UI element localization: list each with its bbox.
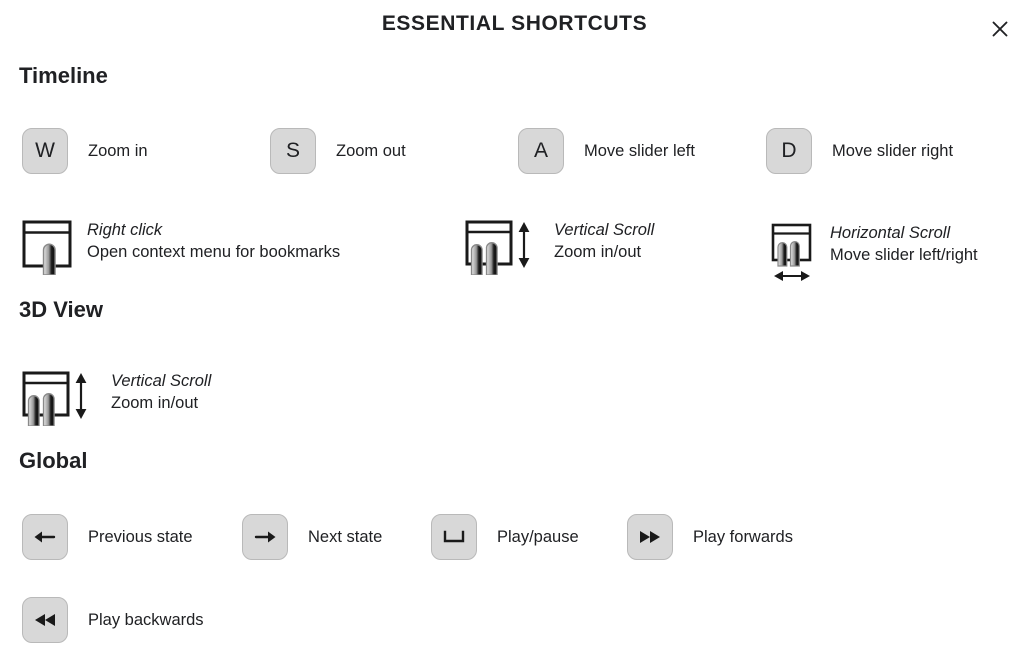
shortcut-vertical-scroll-3dview[interactable]: Vertical Scroll Zoom in/out — [21, 370, 211, 426]
key-arrow-left[interactable] — [22, 514, 68, 560]
key-spacebar[interactable] — [431, 514, 477, 560]
section-heading-timeline: Timeline — [19, 63, 108, 89]
shortcut-label: Next state — [308, 528, 382, 547]
shortcut-label: Play/pause — [497, 528, 579, 547]
section-heading-3dview: 3D View — [19, 297, 103, 323]
touchpad-vertical-scroll-icon — [464, 219, 540, 275]
shortcut-action: Right click — [87, 219, 340, 241]
shortcut-description: Zoom in/out — [554, 241, 654, 263]
shortcut-zoom-in[interactable]: W Zoom in — [22, 128, 148, 174]
shortcut-action: Vertical Scroll — [111, 370, 211, 392]
shortcut-description: Move slider left/right — [830, 244, 978, 266]
shortcut-zoom-out[interactable]: S Zoom out — [270, 128, 406, 174]
shortcut-vertical-scroll-timeline[interactable]: Vertical Scroll Zoom in/out — [464, 219, 654, 275]
shortcut-label: Move slider right — [832, 142, 953, 161]
shortcut-description: Zoom in/out — [111, 392, 211, 414]
shortcut-play-backwards[interactable]: Play backwards — [22, 597, 204, 643]
shortcut-description: Open context menu for bookmarks — [87, 241, 340, 263]
rewind-icon — [31, 610, 59, 630]
key-s[interactable]: S — [270, 128, 316, 174]
shortcut-label: Play backwards — [88, 611, 204, 630]
arrow-right-icon — [252, 526, 278, 548]
shortcut-label: Zoom in — [88, 142, 148, 161]
shortcut-label: Move slider left — [584, 142, 695, 161]
key-w[interactable]: W — [22, 128, 68, 174]
touchpad-vertical-scroll-icon — [21, 370, 97, 426]
shortcut-horizontal-scroll[interactable]: Horizontal Scroll Move slider left/right — [770, 222, 978, 284]
shortcut-move-slider-right[interactable]: D Move slider right — [766, 128, 953, 174]
touchpad-horizontal-scroll-icon — [770, 222, 818, 284]
key-a[interactable]: A — [518, 128, 564, 174]
shortcut-action: Vertical Scroll — [554, 219, 654, 241]
arrow-left-icon — [32, 526, 58, 548]
shortcut-previous-state[interactable]: Previous state — [22, 514, 193, 560]
section-heading-global: Global — [19, 448, 87, 474]
close-button[interactable] — [985, 14, 1015, 44]
shortcut-right-click[interactable]: Right click Open context menu for bookma… — [21, 219, 340, 275]
touchpad-right-click-icon — [21, 219, 73, 275]
spacebar-icon — [441, 527, 467, 547]
key-fast-forward[interactable] — [627, 514, 673, 560]
shortcut-label: Play forwards — [693, 528, 793, 547]
shortcut-play-forwards[interactable]: Play forwards — [627, 514, 793, 560]
shortcut-label: Zoom out — [336, 142, 406, 161]
shortcut-action: Horizontal Scroll — [830, 222, 978, 244]
shortcut-next-state[interactable]: Next state — [242, 514, 382, 560]
close-icon — [990, 19, 1010, 39]
shortcut-play-pause[interactable]: Play/pause — [431, 514, 579, 560]
key-rewind[interactable] — [22, 597, 68, 643]
key-d[interactable]: D — [766, 128, 812, 174]
key-arrow-right[interactable] — [242, 514, 288, 560]
fast-forward-icon — [636, 527, 664, 547]
page-title: ESSENTIAL SHORTCUTS — [0, 12, 1029, 36]
shortcut-move-slider-left[interactable]: A Move slider left — [518, 128, 695, 174]
shortcut-label: Previous state — [88, 528, 193, 547]
shortcuts-dialog: ESSENTIAL SHORTCUTS Timeline W Zoom in S… — [0, 0, 1029, 665]
